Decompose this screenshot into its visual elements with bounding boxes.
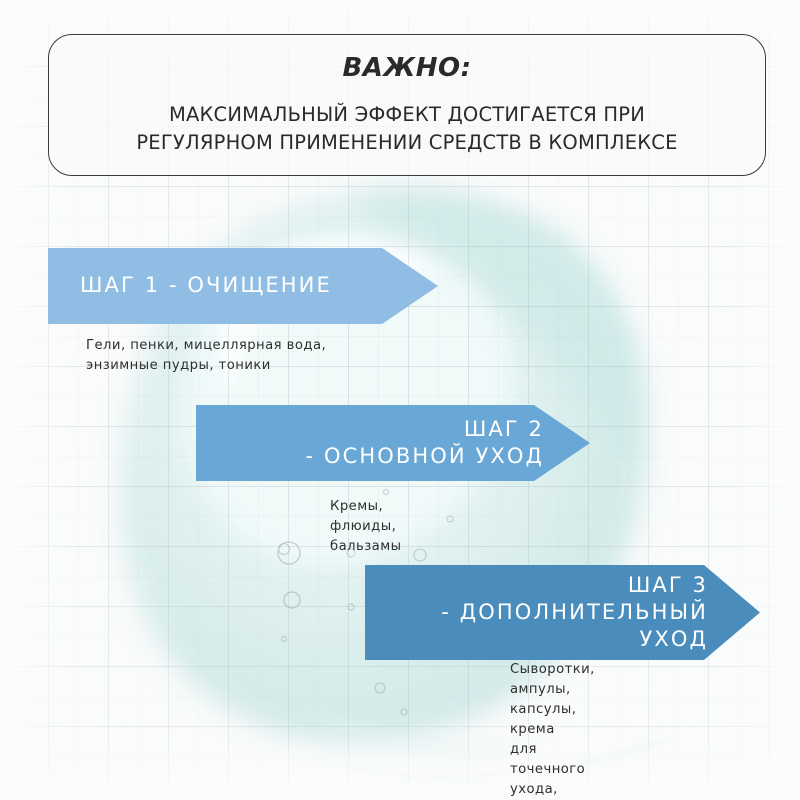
step-3: ШАГ 3 - ДОПОЛНИТЕЛЬНЫЙ УХОД Сыворотки, а… bbox=[0, 0, 395, 95]
step-2-description: Кремы, флюиды, бальзамы bbox=[330, 497, 401, 557]
step-3-label: ШАГ 3 - ДОПОЛНИТЕЛЬНЫЙ УХОД bbox=[365, 572, 760, 654]
step-3-description: Сыворотки, ампулы, капсулы, крема для то… bbox=[510, 660, 595, 800]
step-1-label: ШАГ 1 - ОЧИЩЕНИЕ bbox=[48, 272, 438, 299]
infographic-canvas: ВАЖНО: МАКСИМАЛЬНЫЙ ЭФФЕКТ ДОСТИГАЕТСЯ П… bbox=[0, 0, 800, 800]
step-3-arrow-banner[interactable]: ШАГ 3 - ДОПОЛНИТЕЛЬНЫЙ УХОД bbox=[365, 565, 760, 660]
step-2-arrow-banner[interactable]: ШАГ 2 - ОСНОВНОЙ УХОД bbox=[196, 405, 590, 481]
callout-body-text: МАКСИМАЛЬНЫЙ ЭФФЕКТ ДОСТИГАЕТСЯ ПРИ РЕГУ… bbox=[136, 101, 677, 156]
step-1-description: Гели, пенки, мицеллярная вода, энзимные … bbox=[86, 336, 326, 376]
step-2-label: ШАГ 2 - ОСНОВНОЙ УХОД bbox=[196, 416, 590, 471]
step-1-arrow-banner[interactable]: ШАГ 1 - ОЧИЩЕНИЕ bbox=[48, 248, 438, 324]
